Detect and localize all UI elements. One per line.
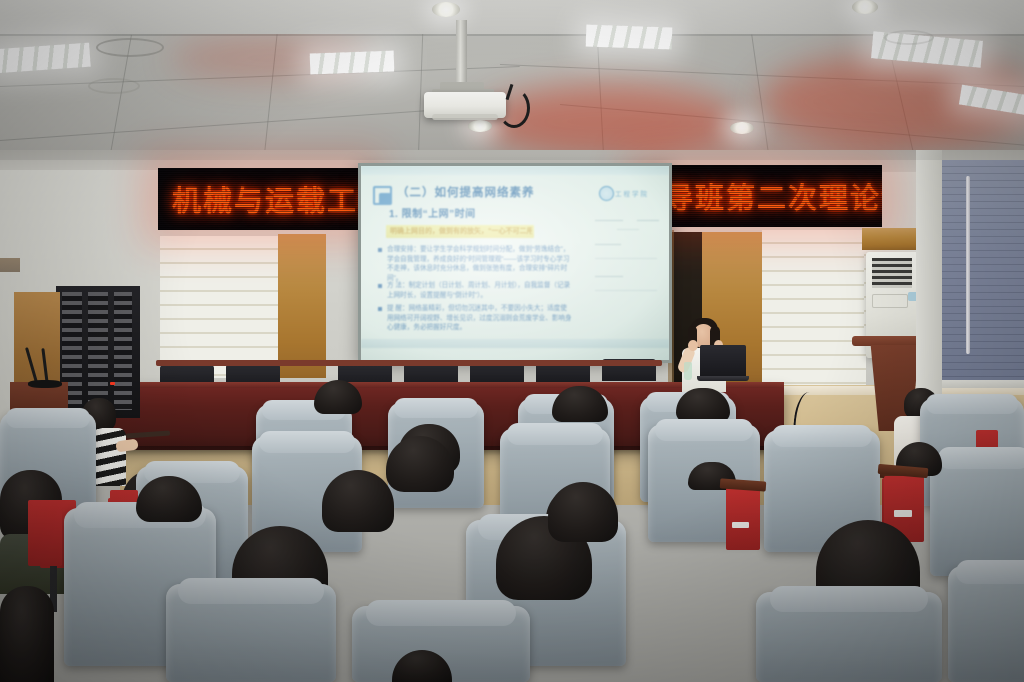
slide-bullet-item: 合理安排：要让学生学会科学规划时间分配，做到“劳逸结合”，学会自我管理，养成良好… — [387, 245, 573, 283]
ceiling-downlight — [730, 122, 754, 134]
wall-acoustic-panel-left — [158, 236, 280, 378]
seat-number-tag — [894, 510, 912, 517]
slide-bullet-item: 提 醒：网络虽精彩，但切勿沉迷其中，不要因小失大；适度使用网络可开阔视野、增长见… — [387, 304, 573, 333]
seat — [948, 556, 1024, 682]
seat-headrest — [938, 447, 1024, 469]
seat-headrest — [507, 423, 603, 445]
seat-headrest — [655, 419, 753, 441]
microphone-base — [28, 380, 62, 388]
ceiling-vent-ring — [884, 30, 934, 45]
presenter-laptop-screen — [700, 345, 746, 378]
seat-headrest — [366, 600, 516, 626]
slide-subtitle: 1. 限制“上网”时间 — [389, 208, 619, 221]
equipment-rack-led — [110, 382, 115, 385]
slide-side-line — [595, 220, 623, 221]
seat-headrest — [394, 398, 478, 418]
slide-side-line — [595, 290, 657, 291]
left-led-banner-text: 机械与运载工程学 — [172, 178, 366, 220]
slide-footer-bar — [361, 339, 669, 348]
wall-left-trim — [0, 258, 20, 272]
seat-side-panel — [28, 500, 62, 566]
seat-headrest — [6, 408, 90, 428]
slide: （二）如何提高网络素养 1. 限制“上网”时间 明确上网目的，做到有的放矢，“一… — [361, 166, 669, 360]
bullet-marker — [378, 284, 382, 288]
slide-top-bar — [361, 166, 669, 175]
right-led-banner: 导班第二次理论课程 — [640, 165, 882, 227]
seat-headrest — [926, 394, 1018, 414]
wall-acoustic-panel-right — [762, 230, 866, 385]
bullet-marker — [378, 248, 382, 252]
equipment-rack-modules — [88, 292, 108, 410]
slide-bullet-text: 提 醒：网络虽精彩，但切勿沉迷其中，不要因小失大；适度使用网络可开阔视野、增长见… — [387, 304, 573, 333]
wall-right-pillar — [916, 150, 942, 400]
lecture-hall-photo: 机械与运载工程学 导班第二次理论课程 （二）如何提高网络素养 1. 限制“上网”… — [0, 0, 1024, 682]
slide-title: （二）如何提高网络素养 — [397, 186, 627, 201]
ceiling-downlight — [852, 0, 878, 14]
ceiling-downlight — [432, 2, 460, 17]
projector-lens — [432, 114, 498, 120]
projector-cable — [498, 88, 530, 128]
slide-university-logo-icon — [599, 186, 614, 201]
stage-chair-rail — [156, 360, 662, 366]
left-led-banner: 机械与运载工程学 — [158, 168, 366, 230]
water-bottle — [684, 362, 692, 380]
seat — [166, 556, 336, 682]
projection-screen-frame: （二）如何提高网络素养 1. 限制“上网”时间 明确上网目的，做到有的放矢，“一… — [358, 163, 672, 363]
seat-headrest — [956, 560, 1024, 584]
slide-side-line — [595, 276, 623, 277]
right-led-banner-text: 导班第二次理论课程 — [664, 175, 882, 217]
seat-headrest — [259, 431, 355, 453]
seat-headrest — [770, 586, 928, 612]
wall-wood-column — [278, 234, 326, 378]
ceiling-downlight — [468, 120, 492, 132]
ceiling-vent-ring — [96, 38, 164, 57]
slide-bullet-text: 方 法：制定计划（日计划、周计划、月计划），自我监督（记录上网时长，设置提醒与“… — [387, 281, 573, 300]
slide-side-line — [595, 258, 657, 259]
slide-decor-icon-square — [379, 193, 391, 205]
seat-headrest — [178, 578, 324, 604]
slide-side-line — [595, 244, 621, 245]
slide-bullet-item: 方 法：制定计划（日计划、周计划、月计划），自我监督（记录上网时长，设置提醒与“… — [387, 281, 573, 300]
bullet-marker — [378, 307, 382, 311]
projection-screen: （二）如何提高网络素养 1. 限制“上网”时间 明确上网目的，做到有的放矢，“一… — [361, 166, 669, 360]
slide-university-logo-text: 工程学院 — [615, 188, 649, 198]
presenter-laptop-base — [697, 376, 749, 381]
seat-headrest — [772, 425, 872, 447]
slide-highlight-text: 明确上网目的，做到有的放矢，“一心不可二用” — [390, 226, 532, 237]
ceiling-vent-ring — [88, 78, 140, 94]
window-blinds — [938, 160, 1024, 380]
slide-side-line — [617, 229, 639, 230]
projector-pole — [456, 20, 467, 86]
seat-side-panel — [726, 488, 760, 550]
audience-head — [0, 586, 54, 682]
seat-number-tag — [732, 522, 749, 528]
seat — [756, 568, 942, 682]
slide-bullet-text: 合理安排：要让学生学会科学规划时间分配，做到“劳逸结合”，学会自我管理，养成良好… — [387, 245, 573, 283]
slide-side-line — [637, 220, 659, 221]
audience-head — [322, 470, 394, 532]
ceiling-light-panel — [310, 51, 395, 75]
equipment-rack-modules — [114, 292, 132, 410]
ceiling-light-panel — [586, 25, 673, 50]
air-conditioner-control-panel — [872, 294, 908, 308]
air-conditioner-vent — [872, 258, 912, 288]
blinds-pull-rod — [966, 176, 970, 354]
presenter-hand — [688, 340, 698, 351]
